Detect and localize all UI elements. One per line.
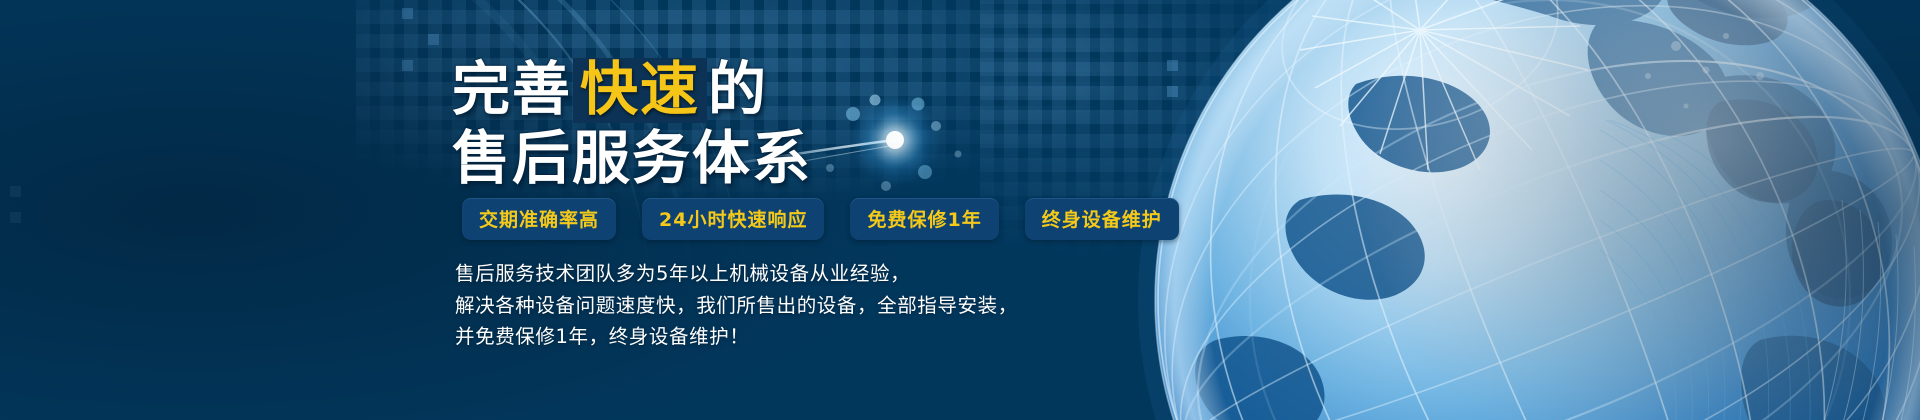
description-line-1: 售后服务技术团队多为5年以上机械设备从业经验， xyxy=(455,258,1018,290)
headline-line-1-before: 完善 xyxy=(452,55,572,123)
headline-line-1: 完善快速的 xyxy=(452,58,812,123)
headline-line-2: 售后服务体系 xyxy=(452,129,812,188)
description-line-3: 并免费保修1年，终身设备维护！ xyxy=(455,321,1018,353)
service-banner: 完善快速的 售后服务体系 交期准确率高 24小时快速响应 免费保修1年 终身设备… xyxy=(0,0,1920,420)
headline-highlight: 快速 xyxy=(573,58,707,123)
description-paragraph: 售后服务技术团队多为5年以上机械设备从业经验， 解决各种设备问题速度快，我们所售… xyxy=(455,258,1018,353)
badge-lifetime-maintenance[interactable]: 终身设备维护 xyxy=(1025,198,1179,240)
headline-line-1-after: 的 xyxy=(708,55,768,123)
feature-badge-list: 交期准确率高 24小时快速响应 免费保修1年 终身设备维护 xyxy=(462,198,1179,240)
banner-content: 完善快速的 售后服务体系 交期准确率高 24小时快速响应 免费保修1年 终身设备… xyxy=(0,0,1150,420)
badge-24h-response[interactable]: 24小时快速响应 xyxy=(642,198,824,240)
headline: 完善快速的 售后服务体系 xyxy=(452,58,812,188)
badge-free-warranty[interactable]: 免费保修1年 xyxy=(850,198,998,240)
description-line-2: 解决各种设备问题速度快，我们所售出的设备，全部指导安装， xyxy=(455,290,1018,322)
badge-delivery-accuracy[interactable]: 交期准确率高 xyxy=(462,198,616,240)
